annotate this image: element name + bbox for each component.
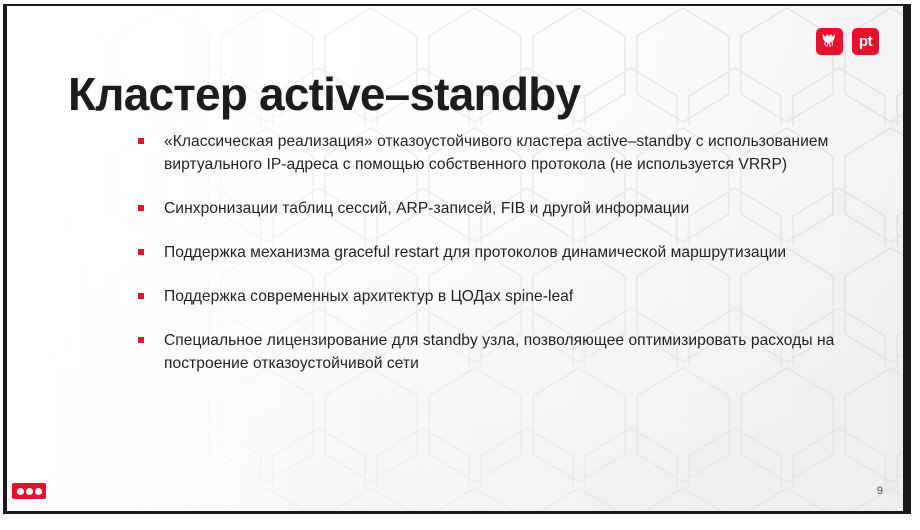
square-bullet-icon: [138, 205, 144, 211]
frame-edge-left: [3, 6, 7, 514]
square-bullet-icon: [138, 293, 144, 299]
corner-mark-logo: [12, 483, 46, 499]
three-dots-icon-dot: [17, 488, 24, 495]
list-item: Поддержка механизма graceful restart для…: [138, 241, 838, 264]
frame-edge-bottom: [3, 511, 911, 514]
list-item-text: Поддержка современных архитектур в ЦОДах…: [164, 285, 838, 308]
page-number: 9: [877, 485, 883, 497]
owl-mark-icon: [820, 32, 839, 51]
list-item: Специальное лицензирование для standby у…: [138, 329, 838, 375]
list-item-text: Специальное лицензирование для standby у…: [164, 329, 838, 375]
frame-edge-right: [903, 6, 911, 514]
list-item-text: Поддержка механизма graceful restart для…: [164, 241, 838, 264]
list-item-text: «Классическая реализация» отказоустойчив…: [164, 130, 838, 176]
three-dots-icon-dot: [35, 488, 42, 495]
square-bullet-icon: [138, 138, 144, 144]
pt-wordmark-logo: pt: [852, 28, 879, 55]
list-item-text: Синхронизации таблиц сессий, ARP-записей…: [164, 197, 838, 220]
brand-mark-logo: [816, 28, 843, 55]
square-bullet-icon: [138, 337, 144, 343]
slide-canvas: pt Кластер active–standby «Классическая …: [7, 6, 903, 511]
bullet-list: «Классическая реализация» отказоустойчив…: [138, 130, 838, 375]
square-bullet-icon: [138, 249, 144, 255]
slide-frame: pt Кластер active–standby «Классическая …: [0, 0, 920, 530]
three-dots-icon-dot: [26, 488, 33, 495]
pt-wordmark-label: pt: [859, 34, 872, 50]
frame-edge-top: [3, 4, 911, 6]
list-item: «Классическая реализация» отказоустойчив…: [138, 130, 838, 176]
list-item: Синхронизации таблиц сессий, ARP-записей…: [138, 197, 838, 220]
list-item: Поддержка современных архитектур в ЦОДах…: [138, 285, 838, 308]
page-title: Кластер active–standby: [68, 67, 580, 121]
logo-group: pt: [816, 28, 879, 55]
